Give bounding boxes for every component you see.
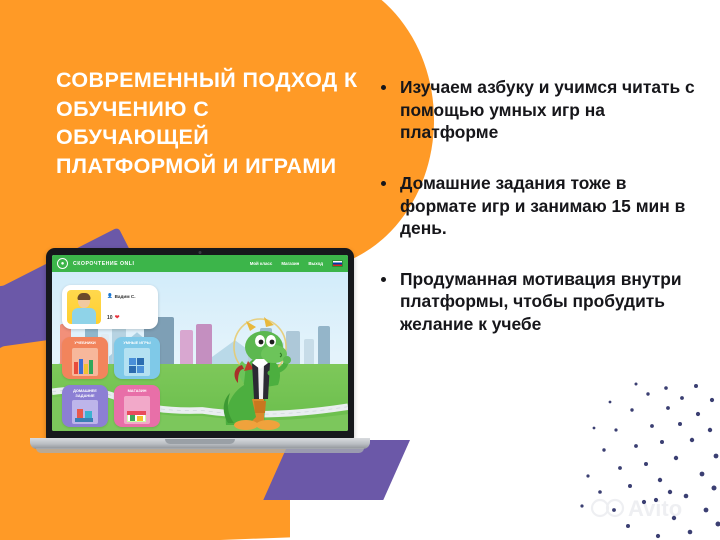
puzzle-icon	[124, 348, 150, 376]
list-item: Изучаем азбуку и учимся читать с помощью…	[378, 76, 696, 144]
laptop-lid: ● СКОРОЧТЕНИЕ ONLI Мой класс Магазин Вых…	[46, 248, 354, 440]
app-header-bar: ● СКОРОЧТЕНИЕ ONLI Мой класс Магазин Вых…	[52, 255, 348, 272]
tile-label: ДОМАШНЕЕ ЗАДАНИЕ	[65, 389, 105, 398]
profile-meta: 👤 Вадим С. 10 ❤	[107, 290, 136, 324]
building-shape	[180, 330, 193, 364]
user-profile-card[interactable]: 👤 Вадим С. 10 ❤	[62, 285, 158, 329]
nav-item-my-class[interactable]: Мой класс	[250, 261, 273, 266]
ru-flag-icon[interactable]	[332, 260, 343, 267]
list-item: Продуманная мотивация внутри платформы, …	[378, 268, 696, 336]
avatar	[67, 290, 101, 324]
bullet-dot-icon	[381, 181, 386, 186]
avito-watermark: Avito	[588, 488, 708, 526]
laptop-screen: ● СКОРОЧТЕНИЕ ONLI Мой класс Магазин Вых…	[52, 255, 348, 431]
slide-canvas: СОВРЕМЕННЫЙ ПОДХОД К ОБУЧЕНИЮ С ОБУЧАЮЩЕ…	[0, 0, 720, 540]
page-title: СОВРЕМЕННЫЙ ПОДХОД К ОБУЧЕНИЮ С ОБУЧАЮЩЕ…	[56, 66, 366, 180]
profile-name-label: Вадим С.	[115, 294, 136, 299]
profile-score-row: 10 ❤	[107, 315, 136, 321]
bullet-dot-icon	[381, 277, 386, 282]
tile-shop[interactable]: МАГАЗИН	[114, 385, 160, 427]
watermark-label: Avito	[628, 496, 682, 521]
app-brand-label: СКОРОЧТЕНИЕ ONLI	[73, 261, 134, 267]
green-dragon-mascot-icon	[220, 313, 294, 431]
books-icon	[72, 348, 98, 376]
profile-score-value: 10	[107, 315, 113, 321]
desk-icon	[72, 400, 98, 424]
nav-item-shop[interactable]: Магазин	[281, 261, 299, 266]
tile-homework[interactable]: ДОМАШНЕЕ ЗАДАНИЕ	[62, 385, 108, 427]
building-shape	[196, 324, 212, 364]
tile-label: МАГАЗИН	[128, 389, 147, 394]
profile-name-row: 👤 Вадим С.	[107, 293, 136, 299]
tile-label: УЧЕБНИКИ	[74, 341, 95, 346]
tile-label: УМНЫЕ ИГРЫ	[123, 341, 150, 346]
tile-textbooks[interactable]: УЧЕБНИКИ	[62, 337, 108, 379]
laptop-foot	[36, 448, 364, 453]
shop-icon	[124, 396, 150, 424]
heart-icon: ❤	[115, 315, 120, 321]
list-item-text: Продуманная мотивация внутри платформы, …	[400, 269, 682, 334]
owl-glyph-icon: ●	[61, 261, 65, 267]
benefits-list: Изучаем азбуку и учимся читать с помощью…	[378, 76, 696, 336]
avatar-hair-shape	[78, 293, 91, 300]
list-item-text: Изучаем азбуку и учимся читать с помощью…	[400, 77, 695, 142]
bullet-dot-icon	[381, 85, 386, 90]
laptop-mockup: ● СКОРОЧТЕНИЕ ONLI Мой класс Магазин Вых…	[30, 248, 370, 463]
laptop-notch	[165, 439, 235, 444]
avatar-body-shape	[72, 308, 96, 324]
dot-pattern-decoration	[570, 380, 720, 540]
menu-tiles: УЧЕБНИКИ УМНЫЕ ИГРЫ	[62, 337, 162, 427]
app-nav: Мой класс Магазин Выход	[250, 260, 343, 267]
building-shape	[304, 339, 314, 364]
owl-logo-icon[interactable]: ●	[57, 258, 68, 269]
list-item-text: Домашние задания тоже в формате игр и за…	[400, 173, 685, 238]
building-shape	[318, 326, 330, 364]
list-item: Домашние задания тоже в формате игр и за…	[378, 172, 696, 240]
webcam-icon	[199, 251, 202, 254]
nav-item-logout[interactable]: Выход	[308, 261, 323, 266]
person-icon: 👤	[107, 293, 113, 299]
tile-smart-games[interactable]: УМНЫЕ ИГРЫ	[114, 337, 160, 379]
